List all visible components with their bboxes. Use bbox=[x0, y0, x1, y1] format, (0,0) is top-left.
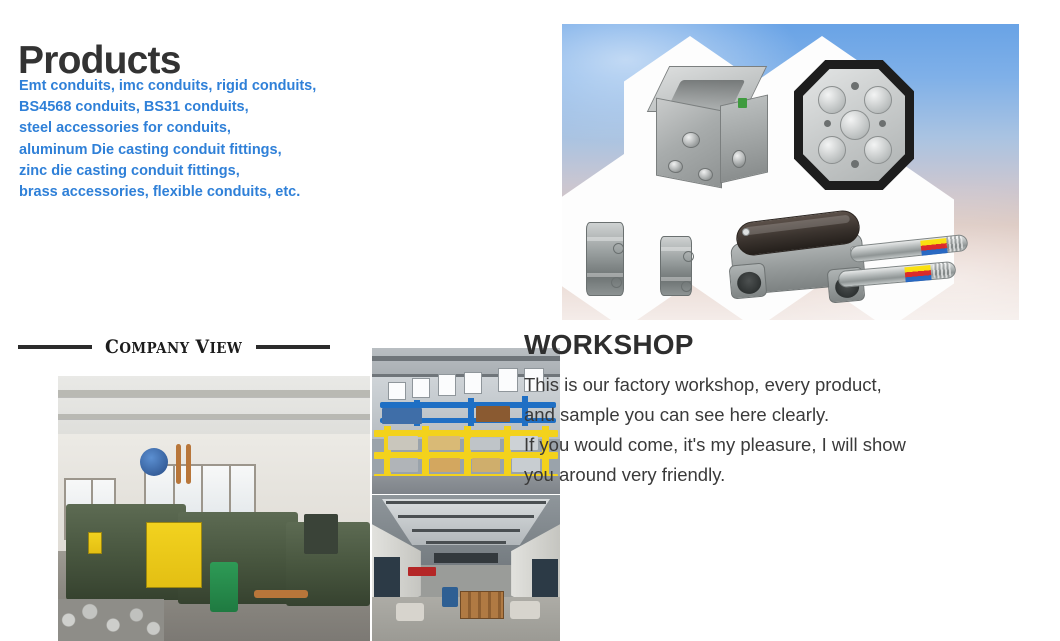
stored-goods bbox=[382, 408, 422, 424]
machine-yellow-panel bbox=[88, 532, 102, 554]
product-rectangular-device-box bbox=[652, 64, 772, 196]
company-view-banner: COMPANY VIEW bbox=[18, 336, 330, 358]
stored-goods bbox=[470, 438, 500, 450]
photo-factory-machines bbox=[58, 376, 370, 641]
control-cabinet bbox=[304, 514, 338, 554]
octagon-knockout bbox=[864, 86, 892, 114]
octagon-rivet bbox=[851, 82, 859, 90]
stored-goods bbox=[476, 406, 510, 422]
rack-post bbox=[504, 426, 511, 484]
wall-sign bbox=[408, 567, 436, 576]
products-list-line: BS4568 conduits, BS31 conduits, bbox=[19, 97, 316, 118]
workshop-section: WORKSHOP This is our factory workshop, e… bbox=[524, 328, 1044, 528]
roof-truss bbox=[386, 501, 546, 504]
product-octagonal-pancake-box bbox=[794, 60, 914, 190]
green-drum bbox=[210, 562, 238, 612]
lb-cover-screw bbox=[742, 228, 750, 236]
company-view-label: COMPANY VIEW bbox=[105, 336, 242, 358]
roof-truss bbox=[434, 553, 498, 563]
ceiling-beam bbox=[58, 390, 370, 397]
rack-post bbox=[422, 426, 429, 484]
product-emt-coupling bbox=[660, 236, 692, 296]
octagon-knockout bbox=[864, 136, 892, 164]
window bbox=[388, 382, 406, 400]
box-knockout bbox=[682, 132, 700, 148]
octagon-rivet bbox=[851, 160, 859, 168]
workshop-description-line: This is our factory workshop, every prod… bbox=[524, 370, 1044, 400]
rack-post bbox=[464, 426, 471, 484]
roof-truss bbox=[426, 541, 506, 544]
products-list-line: zinc die casting conduit fittings, bbox=[19, 161, 316, 182]
window bbox=[498, 368, 518, 392]
window bbox=[412, 378, 430, 398]
mezzanine-post bbox=[468, 398, 474, 426]
octagon-rivet bbox=[824, 120, 831, 127]
lb-cover-lip bbox=[744, 215, 850, 236]
lb-hub bbox=[729, 262, 768, 299]
stored-goods bbox=[428, 436, 460, 450]
floor-debris bbox=[58, 599, 164, 641]
wall-pipe bbox=[186, 444, 191, 484]
banner-rule-left bbox=[18, 345, 92, 349]
octagon-knockout bbox=[818, 86, 846, 114]
stacked-cartons bbox=[460, 591, 504, 619]
stored-goods bbox=[388, 436, 418, 450]
coupling-band bbox=[587, 237, 623, 241]
nipple-color-label bbox=[920, 238, 947, 256]
window bbox=[438, 374, 456, 396]
window bbox=[464, 372, 482, 394]
product-emt-coupling bbox=[586, 222, 624, 296]
octagon-knockout bbox=[818, 136, 846, 164]
wall-pipe bbox=[176, 444, 181, 484]
workshop-description-line: you around very friendly. bbox=[524, 460, 1044, 490]
lb-bore bbox=[736, 271, 762, 295]
stored-goods bbox=[472, 458, 500, 472]
nipple-color-label bbox=[904, 265, 931, 282]
octagon-knockout bbox=[840, 110, 870, 140]
stacked-sacks bbox=[396, 603, 424, 621]
wall-fan bbox=[140, 448, 168, 476]
products-list-line: Emt conduits, imc conduits, rigid condui… bbox=[19, 76, 316, 97]
workshop-description-line: If you would come, it's my pleasure, I w… bbox=[524, 430, 1044, 460]
coupling-setscrew bbox=[613, 243, 624, 254]
blue-bin bbox=[442, 587, 458, 607]
workshop-description: This is our factory workshop, every prod… bbox=[524, 370, 1044, 490]
stacked-sacks bbox=[510, 601, 540, 619]
machine-yellow-panel bbox=[146, 522, 202, 588]
box-knockout bbox=[732, 150, 746, 168]
ceiling-beam bbox=[58, 414, 370, 419]
workshop-title: WORKSHOP bbox=[524, 328, 1044, 362]
box-ground-screw bbox=[738, 98, 747, 108]
products-list-line: aluminum Die casting conduit fittings, bbox=[19, 140, 316, 161]
stored-goods bbox=[390, 458, 418, 472]
banner-rule-right bbox=[256, 345, 330, 349]
product-lb-conduit-body bbox=[730, 216, 870, 308]
octagon-rivet bbox=[879, 120, 886, 127]
roof-truss bbox=[398, 515, 534, 518]
coupling-setscrew bbox=[681, 281, 692, 292]
workshop-scene bbox=[58, 376, 370, 641]
roof-truss bbox=[412, 529, 520, 532]
coupling-setscrew bbox=[683, 251, 694, 262]
rack-post bbox=[384, 426, 391, 484]
products-list-line: brass accessories, flexible conduits, et… bbox=[19, 182, 316, 203]
floor-pipe bbox=[254, 590, 308, 598]
stored-goods bbox=[430, 458, 460, 472]
products-section: Products Emt conduits, imc conduits, rig… bbox=[0, 0, 520, 310]
products-list-line: steel accessories for conduits, bbox=[19, 118, 316, 139]
coupling-setscrew bbox=[611, 277, 622, 288]
products-list: Emt conduits, imc conduits, rigid condui… bbox=[19, 76, 316, 203]
product-collage-image bbox=[562, 24, 1019, 320]
workshop-description-line: and sample you can see here clearly. bbox=[524, 400, 1044, 430]
nipple-threading bbox=[932, 262, 951, 279]
